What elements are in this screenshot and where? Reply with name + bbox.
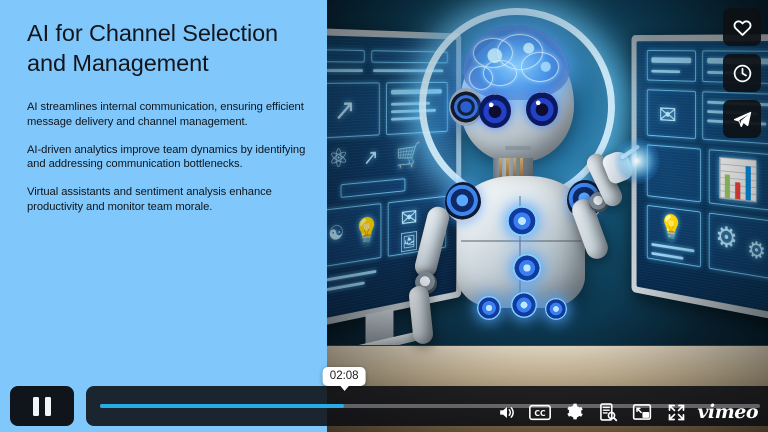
- captions-button[interactable]: CC: [523, 392, 557, 432]
- heart-icon: [732, 17, 753, 38]
- fullscreen-button[interactable]: [659, 392, 693, 432]
- top-action-buttons: [723, 8, 761, 138]
- time-tooltip: 02:08: [323, 367, 366, 386]
- settings-button[interactable]: [557, 392, 591, 432]
- volume-button[interactable]: [489, 392, 523, 432]
- cc-icon: CC: [529, 404, 551, 421]
- video-frame[interactable]: ↗ ⚛ ↗ 🛒 ☯ 💡 ✉ 🖼: [327, 0, 768, 432]
- slide-paragraph-2: AI-driven analytics improve team dynamic…: [27, 143, 312, 173]
- watch-later-button[interactable]: [723, 54, 761, 92]
- vimeo-video-player[interactable]: ↗ ⚛ ↗ 🛒 ☯ 💡 ✉ 🖼: [0, 0, 768, 432]
- vimeo-logo[interactable]: vimeo: [697, 403, 758, 422]
- progress-bar-container[interactable]: CC: [86, 386, 768, 426]
- video-scene-image: ↗ ⚛ ↗ 🛒 ☯ 💡 ✉ 🖼: [327, 0, 768, 432]
- transcript-button[interactable]: [591, 392, 625, 432]
- svg-text:CC: CC: [535, 408, 547, 417]
- paper-plane-icon: [732, 109, 753, 130]
- play-pause-button[interactable]: [10, 386, 74, 426]
- pause-icon-bar-right: [45, 397, 51, 416]
- slide-panel: AI for Channel Selection and Management …: [0, 0, 327, 432]
- pip-button[interactable]: [625, 392, 659, 432]
- slide-title: AI for Channel Selection and Management: [27, 18, 317, 78]
- gear-icon: [564, 402, 584, 422]
- transcript-search-icon: [598, 402, 618, 422]
- picture-in-picture-icon: [632, 403, 652, 421]
- slide-body: AI streamlines internal communication, e…: [27, 100, 312, 228]
- slide-paragraph-1: AI streamlines internal communication, e…: [27, 100, 312, 130]
- slide-paragraph-3: Virtual assistants and sentiment analysi…: [27, 185, 312, 215]
- progress-played: [100, 404, 344, 408]
- clock-icon: [732, 63, 753, 84]
- volume-icon: [497, 403, 516, 422]
- fullscreen-icon: [667, 403, 686, 422]
- player-controls: CC: [0, 380, 768, 432]
- scene-vignette: [327, 0, 768, 432]
- like-button[interactable]: [723, 8, 761, 46]
- pause-icon-bar-left: [33, 397, 39, 416]
- right-control-group: CC: [489, 392, 764, 432]
- share-button[interactable]: [723, 100, 761, 138]
